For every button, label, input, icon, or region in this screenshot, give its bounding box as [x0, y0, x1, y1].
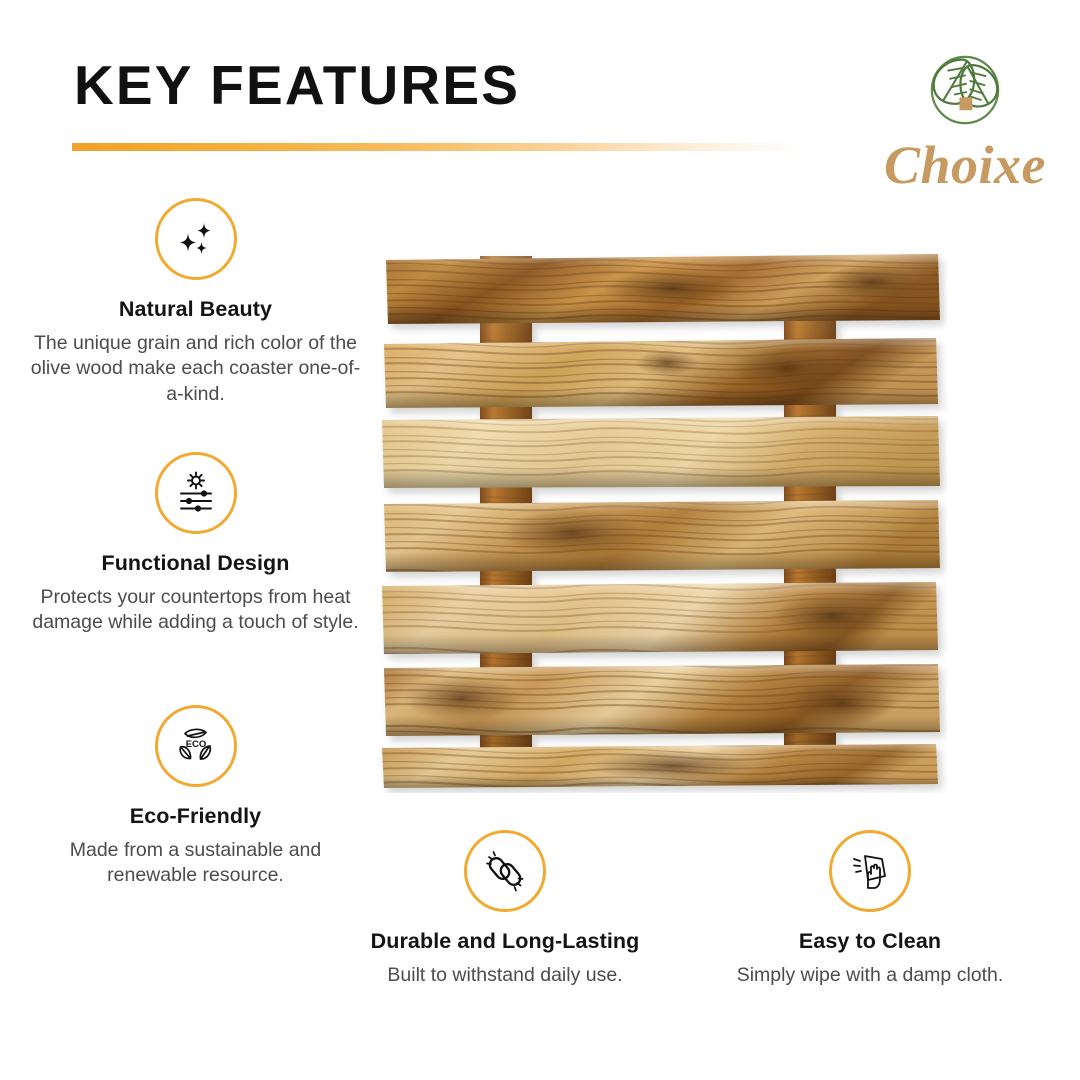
hand-wiping-cloth-icon	[845, 846, 895, 896]
gear-sliders-icon	[171, 468, 221, 518]
feature-eco-friendly: ECO Eco-Friendly Made from a sustainable…	[28, 705, 363, 889]
brand-name: Choixe	[880, 138, 1050, 192]
wood-slat	[384, 338, 938, 408]
feature-description: The unique grain and rich color of the o…	[28, 331, 363, 408]
feature-durable-long-lasting: Durable and Long-Lasting Built to withst…	[340, 830, 670, 988]
hand-wiping-cloth-icon-badge	[829, 830, 911, 912]
wood-slat	[382, 582, 938, 654]
wood-slat	[382, 744, 938, 788]
product-image-olive-wood-trivet	[372, 248, 947, 793]
feature-title: Easy to Clean	[705, 929, 1035, 954]
feature-title: Eco-Friendly	[28, 804, 363, 829]
feature-title: Functional Design	[28, 551, 363, 576]
feature-functional-design: Functional Design Protects your countert…	[28, 452, 363, 636]
page-title: KEY FEATURES	[74, 58, 520, 113]
sparkles-icon	[171, 214, 221, 264]
feature-description: Made from a sustainable and renewable re…	[28, 838, 363, 889]
feature-description: Protects your countertops from heat dama…	[28, 585, 363, 636]
eco-recycle-leaves-icon-badge: ECO	[155, 705, 237, 787]
feature-natural-beauty: Natural Beauty The unique grain and rich…	[28, 198, 363, 407]
wood-slat	[384, 500, 940, 572]
chain-link-icon-badge	[464, 830, 546, 912]
wood-slat	[382, 416, 940, 488]
wood-slat	[386, 254, 940, 324]
feature-title: Natural Beauty	[28, 297, 363, 322]
feature-description: Simply wipe with a damp cloth.	[705, 963, 1035, 989]
sparkles-icon-badge	[155, 198, 237, 280]
eco-recycle-leaves-icon: ECO	[171, 721, 221, 771]
gear-sliders-icon-badge	[155, 452, 237, 534]
eco-icon-label: ECO	[185, 739, 206, 750]
feature-description: Built to withstand daily use.	[340, 963, 670, 989]
feature-title: Durable and Long-Lasting	[340, 929, 670, 954]
feature-easy-to-clean: Easy to Clean Simply wipe with a damp cl…	[705, 830, 1035, 988]
title-underline-rule	[72, 143, 802, 151]
chain-link-icon	[480, 846, 530, 896]
leaf-circle-logo-icon	[919, 44, 1011, 136]
olive-wood-trivet-illustration	[372, 248, 947, 793]
wood-slat	[384, 664, 940, 736]
brand-logo: Choixe	[880, 44, 1050, 192]
